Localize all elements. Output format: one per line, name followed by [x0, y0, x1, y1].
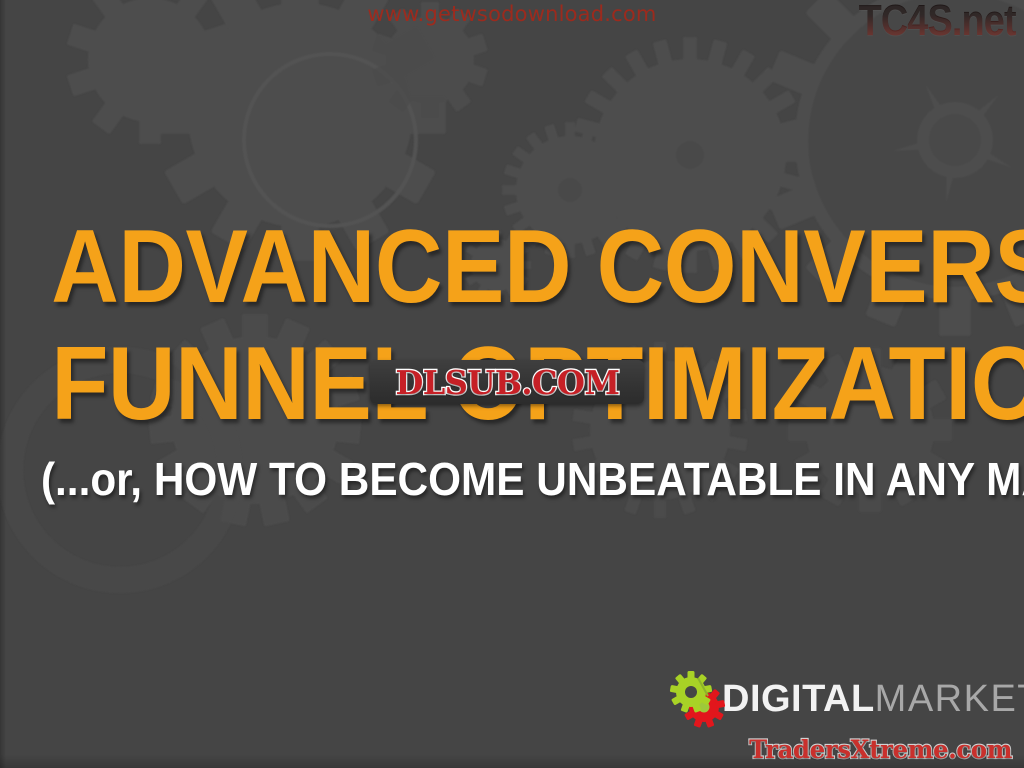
watermark-tradersxtreme: TradersXtreme.com — [749, 735, 1012, 764]
slide-canvas: www.getwsodownload.com TC4S.net ADVANCED… — [0, 0, 1024, 768]
headline-block: ADVANCED CONVERSION FUNNEL OPTIMIZATION … — [0, 216, 1024, 502]
logo-marketer-text: MARKETER — [875, 678, 1024, 720]
watermark-dlsub-text: DLSUB.COM — [395, 363, 619, 402]
title-line-1: ADVANCED CONVERSION — [51, 216, 973, 319]
watermark-dlsub-badge: DLSUB.COM — [370, 360, 644, 404]
logo-wordmark: DIGITALMARKETER — [722, 680, 1024, 718]
digitalmarketer-logo: DIGITALMARKETER — [668, 668, 998, 730]
gear-icon — [668, 670, 730, 728]
logo-digital-text: DIGITAL — [722, 678, 875, 720]
logo-gears — [668, 670, 730, 728]
watermark-tc4s: TC4S.net — [859, 0, 1016, 46]
subtitle: (...or, HOW TO BECOME UNBEATABLE IN ANY … — [41, 456, 983, 502]
